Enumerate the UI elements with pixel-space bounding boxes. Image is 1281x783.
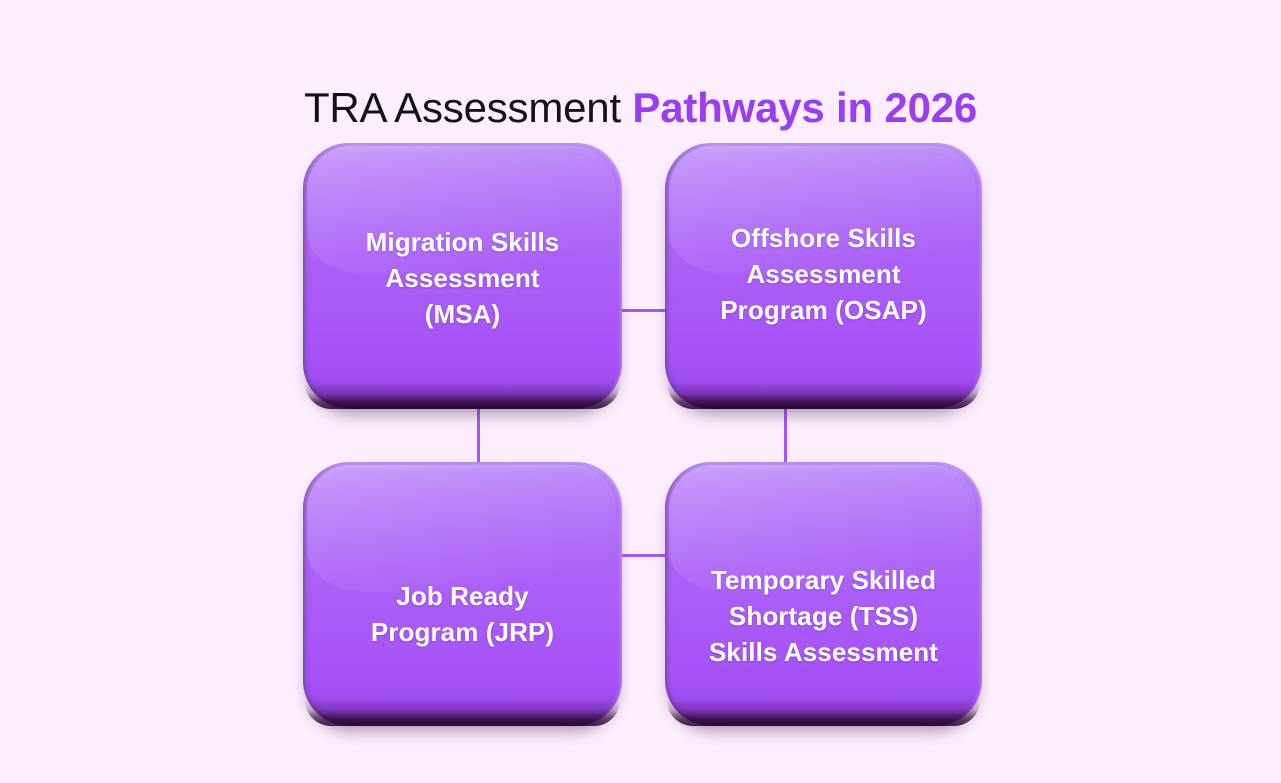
page-title: TRA Assessment Pathways in 2026 (0, 84, 1281, 132)
connector-msa-jrp (477, 406, 480, 464)
node-label-msa: Migration Skills Assessment (MSA) (352, 224, 574, 332)
page-title-accent: Pathways in 2026 (632, 84, 977, 131)
node-temporary-skilled-shortage-assessment[interactable]: Temporary Skilled Shortage (TSS) Skills … (665, 462, 982, 726)
node-offshore-skills-assessment-program[interactable]: Offshore Skills Assessment Program (OSAP… (665, 143, 982, 409)
diagram-canvas: TRA Assessment Pathways in 2026 Migratio… (0, 0, 1281, 783)
node-label-osap: Offshore Skills Assessment Program (OSAP… (706, 220, 941, 328)
connector-msa-osap (622, 309, 666, 312)
connector-osap-tss (784, 406, 787, 464)
node-label-jrp: Job Ready Program (JRP) (357, 578, 568, 650)
connector-jrp-tss (622, 554, 666, 557)
node-job-ready-program[interactable]: Job Ready Program (JRP) (303, 462, 622, 726)
node-label-tss: Temporary Skilled Shortage (TSS) Skills … (695, 562, 952, 670)
page-title-plain: TRA Assessment (304, 84, 632, 131)
node-migration-skills-assessment[interactable]: Migration Skills Assessment (MSA) (303, 143, 622, 409)
